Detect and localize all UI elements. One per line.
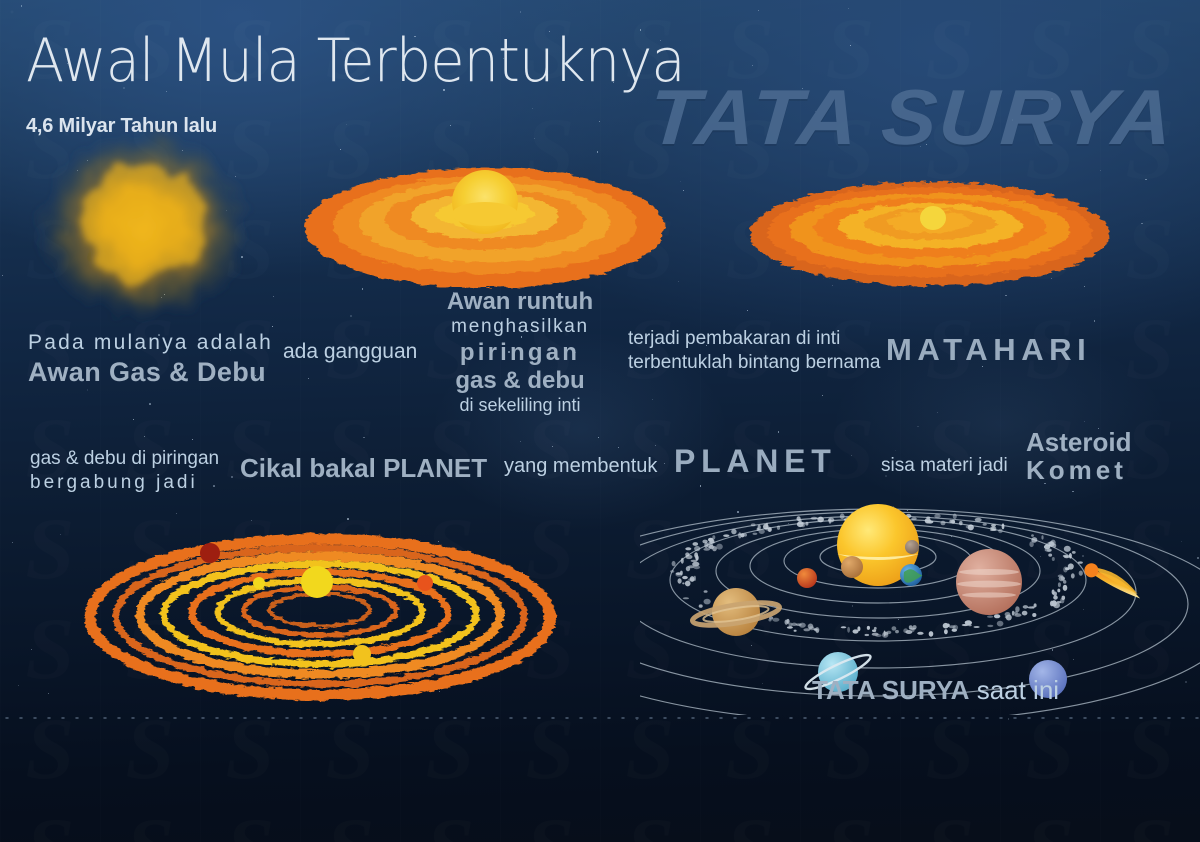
label-planet: PLANET: [674, 443, 837, 480]
caption-line-4: gas & debu: [430, 367, 610, 394]
footer: LANGITSELATAN ASTRO langitselatan info@l…: [0, 719, 1200, 842]
caption-line-1: Asteroid: [1026, 428, 1131, 456]
page-title: Awal Mula Terbentuknya: [26, 26, 685, 96]
caption-line-1: gas & debu di piringan: [30, 447, 219, 470]
label-cikal-bakal-planet: Cikal bakal PLANET: [240, 453, 487, 484]
caption-line-1: terjadi pembakaran di inti: [628, 327, 880, 351]
label-yang-membentuk: yang membentuk: [504, 455, 657, 478]
infographic-poster: SSSSSSSSSSSSSSSSSSSSSSSSSSSSSSSSSSSSSSSS…: [0, 0, 1200, 842]
stage-protostar-caption: terjadi pembakaran di inti terbentuklah …: [628, 327, 880, 375]
mercury: [905, 540, 919, 554]
label-merge-disk: gas & debu di piringan bergabung jadi: [30, 447, 219, 495]
collapsing-disk-illustration: [300, 140, 670, 295]
label-sisa-materi: sisa materi jadi: [881, 455, 1008, 477]
label-matahari: MATAHARI: [886, 332, 1091, 368]
protoplanet-c: [417, 575, 433, 591]
protostar-disk-illustration: [745, 168, 1115, 293]
protoplanet-d: [353, 645, 371, 663]
gas-cloud-illustration: [8, 118, 278, 333]
caption-line-3: piringan: [430, 339, 610, 367]
label-light: saat ini: [977, 675, 1059, 705]
caption-line-2: terbentuklah bintang bernama: [628, 351, 880, 375]
caption-line-1: Awan runtuh: [430, 288, 610, 315]
stage-collapse-caption: Awan runtuh menghasilkan piringan gas & …: [430, 288, 610, 416]
venus: [841, 556, 863, 578]
protoplanet-b: [200, 543, 220, 563]
caption-line-5: di sekeliling inti: [430, 394, 610, 416]
protoplanet-a: [253, 577, 265, 589]
protoplanetary-rings-illustration: [62, 512, 582, 707]
caption-line-2: Komet: [1026, 456, 1131, 485]
label-solar-system: TATA SURYA saat ini: [812, 675, 1059, 706]
label-ada-gangguan: ada gangguan: [283, 340, 417, 364]
caption-light: Pada mulanya adalah: [28, 330, 273, 356]
proto-star: [301, 566, 333, 598]
label-asteroid-komet: Asteroid Komet: [1026, 428, 1131, 485]
caption-line-2: menghasilkan: [430, 315, 610, 339]
caption-line-2: bergabung jadi: [30, 470, 219, 495]
stage-gas-cloud-caption: Pada mulanya adalah Awan Gas & Debu: [28, 330, 273, 388]
label-bold: TATA SURYA: [812, 675, 969, 705]
saturn: [691, 588, 781, 636]
page-title-accent: TATA SURYA: [646, 72, 1178, 163]
caption-bold: Awan Gas & Debu: [28, 356, 273, 388]
mars: [797, 568, 817, 588]
